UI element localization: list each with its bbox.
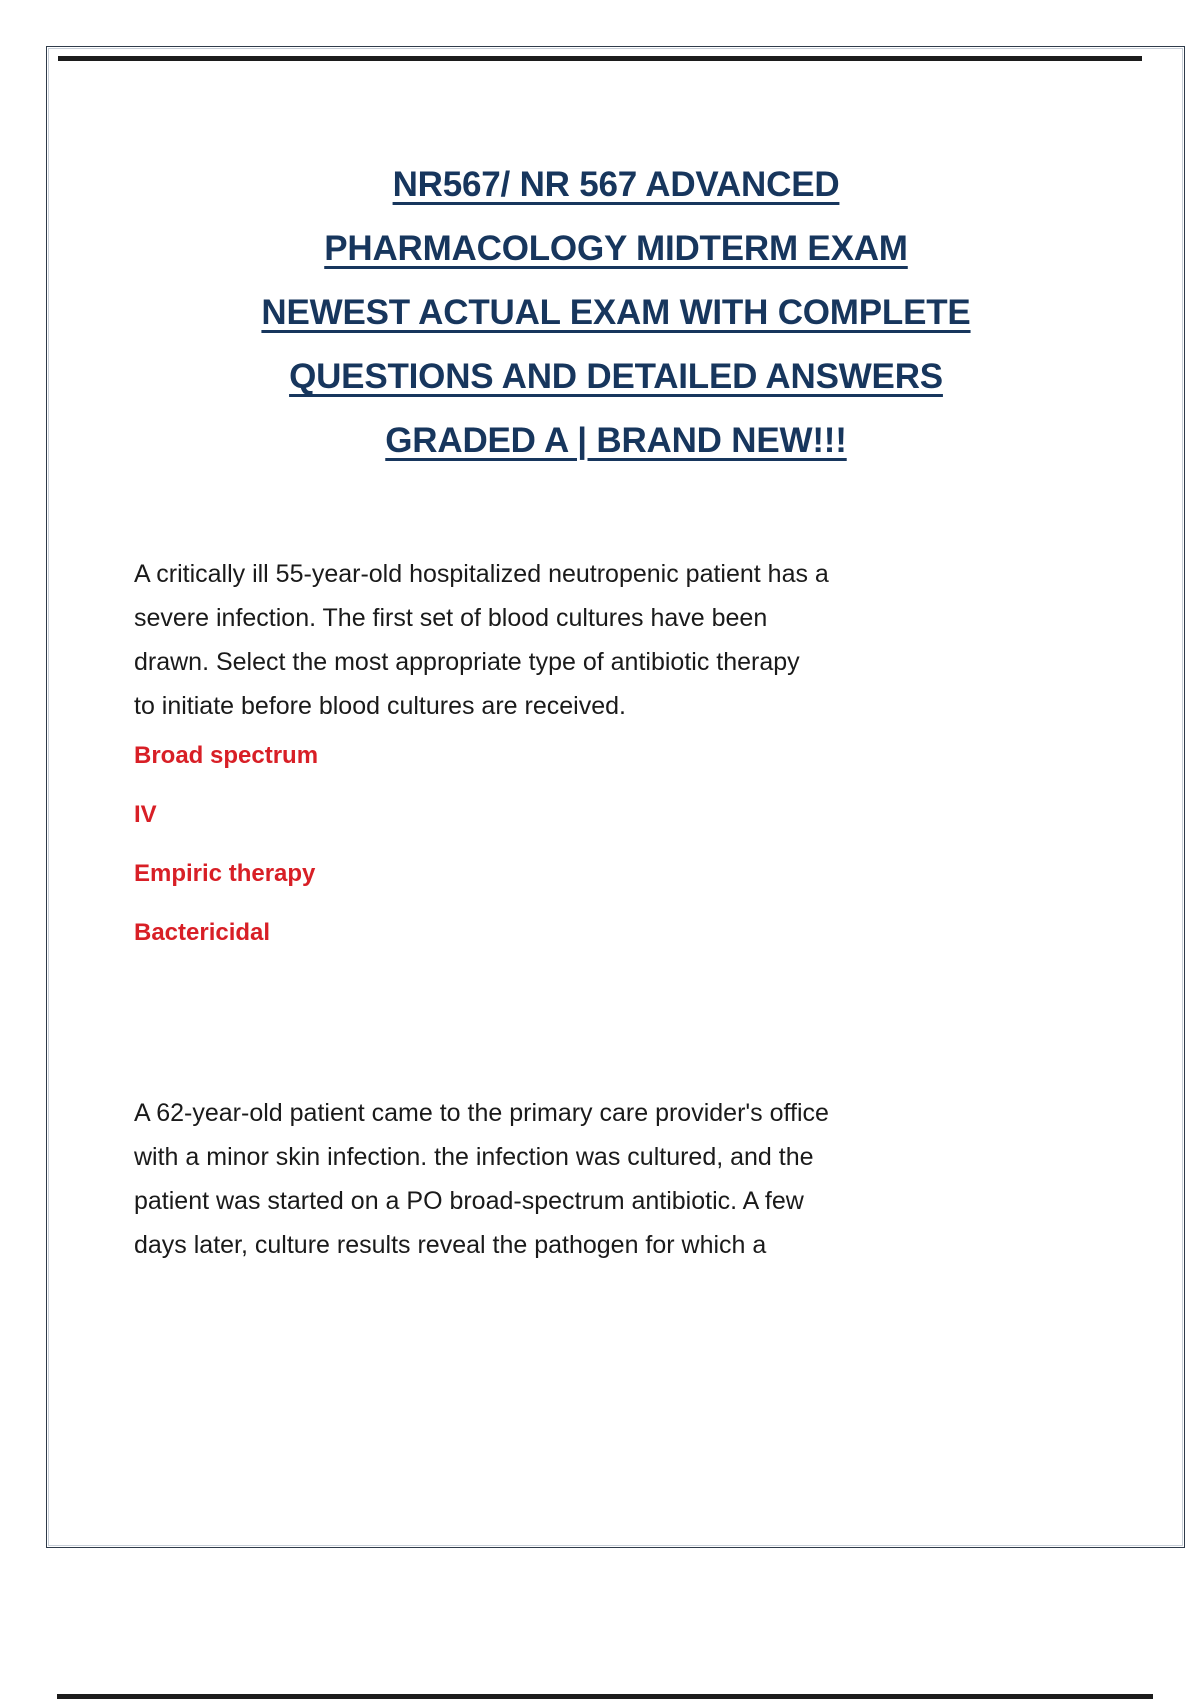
question-1-stem: A critically ill 55-year-old hospitalize… [134,552,1014,728]
question-1-stem-line: severe infection. The first set of blood… [134,596,1014,640]
question-2-stem-line: A 62-year-old patient came to the primar… [134,1091,1014,1135]
question-2-stem-line: with a minor skin infection. the infecti… [134,1135,1014,1179]
title-line-1: NR567/ NR 567 ADVANCED [134,153,1098,217]
page-title: NR567/ NR 567 ADVANCED PHARMACOLOGY MIDT… [134,153,1098,473]
title-line-5: GRADED A | BRAND NEW!!! [134,409,1098,473]
question-1-stem-line: to initiate before blood cultures are re… [134,684,1014,728]
question-2-stem-line: days later, culture results reveal the p… [134,1223,1014,1267]
bottom-horizontal-rule [57,1694,1153,1699]
answer-item: Bactericidal [134,918,1014,948]
question-1-stem-line: drawn. Select the most appropriate type … [134,640,1014,684]
question-2-stem: A 62-year-old patient came to the primar… [134,1091,1014,1267]
question-1-answer-list: Broad spectrum IV Empiric therapy Bacter… [134,741,1014,977]
document-content: NR567/ NR 567 ADVANCED PHARMACOLOGY MIDT… [46,46,1185,1548]
title-line-3: NEWEST ACTUAL EXAM WITH COMPLETE [134,281,1098,345]
title-line-4: QUESTIONS AND DETAILED ANSWERS [134,345,1098,409]
title-line-2: PHARMACOLOGY MIDTERM EXAM [134,217,1098,281]
answer-item: Broad spectrum [134,741,1014,771]
answer-item: Empiric therapy [134,859,1014,889]
question-1-stem-line: A critically ill 55-year-old hospitalize… [134,552,1014,596]
question-2-stem-line: patient was started on a PO broad-spectr… [134,1179,1014,1223]
answer-item: IV [134,800,1014,830]
